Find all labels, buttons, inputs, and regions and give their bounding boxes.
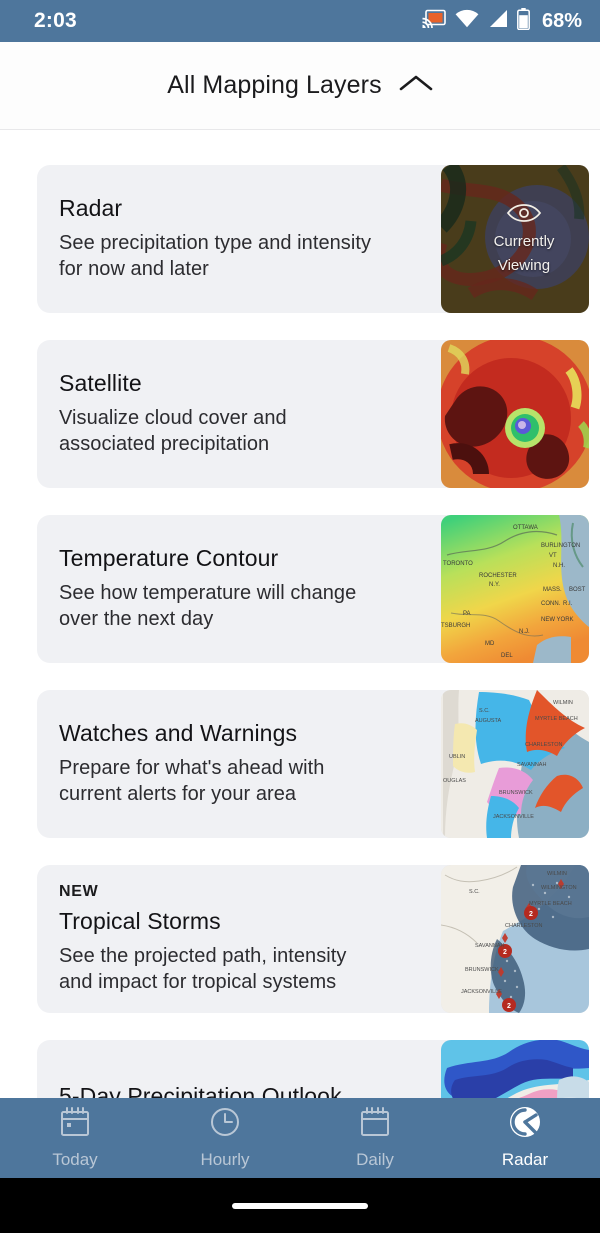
nav-label: Daily bbox=[356, 1150, 394, 1170]
svg-text:WILMIN: WILMIN bbox=[547, 871, 567, 877]
svg-text:ROCHESTER: ROCHESTER bbox=[479, 573, 517, 579]
chevron-up-icon[interactable] bbox=[399, 73, 433, 98]
page-title: All Mapping Layers bbox=[167, 71, 381, 100]
svg-text:OTTAWA: OTTAWA bbox=[513, 525, 538, 531]
nav-label: Hourly bbox=[200, 1150, 249, 1170]
svg-text:MD: MD bbox=[485, 641, 495, 647]
svg-text:S.C.: S.C. bbox=[479, 708, 490, 714]
svg-text:WILMINGTON: WILMINGTON bbox=[541, 885, 577, 891]
layer-description: See how temperature will change over the… bbox=[59, 581, 378, 632]
layer-description: See precipitation type and intensity for… bbox=[59, 231, 378, 282]
svg-text:S.C.: S.C. bbox=[469, 889, 480, 895]
status-bar: 2:03 bbox=[0, 0, 600, 42]
svg-text:AUGUSTA: AUGUSTA bbox=[475, 718, 502, 724]
svg-text:MYRTLE BEACH: MYRTLE BEACH bbox=[535, 716, 578, 722]
system-gesture-bar bbox=[0, 1178, 600, 1233]
mapping-layers-list[interactable]: Radar See precipitation type and intensi… bbox=[0, 131, 600, 1233]
layer-card-tropical-storms[interactable]: NEW Tropical Storms See the projected pa… bbox=[37, 865, 563, 1013]
layer-card-text: Radar See precipitation type and intensi… bbox=[59, 165, 378, 313]
svg-text:BRUNSWICK: BRUNSWICK bbox=[499, 790, 533, 796]
layer-card-text: NEW Tropical Storms See the projected pa… bbox=[59, 865, 378, 1013]
layer-title: Watches and Warnings bbox=[59, 720, 378, 747]
svg-text:MYRTLE BEACH: MYRTLE BEACH bbox=[529, 901, 572, 907]
calendar-icon bbox=[59, 1106, 91, 1143]
svg-text:R.I.: R.I. bbox=[563, 601, 573, 607]
svg-text:WILMIN: WILMIN bbox=[553, 700, 573, 706]
svg-text:N.J.: N.J. bbox=[519, 629, 530, 635]
svg-text:N.H.: N.H. bbox=[553, 563, 565, 569]
svg-text:JACKSONVILLE: JACKSONVILLE bbox=[461, 989, 502, 995]
svg-text:2: 2 bbox=[507, 1003, 511, 1010]
thumbnail-image: 2 2 2 S.C. WILMIN WILMINGTON MYRTLE BEAC… bbox=[441, 865, 589, 1013]
thumbnail-image: S.C. WILMIN MYRTLE BEACH AUGUSTA CHARLES… bbox=[441, 690, 589, 838]
svg-text:CONN.: CONN. bbox=[541, 601, 561, 607]
svg-text:SAVANNAH: SAVANNAH bbox=[517, 762, 546, 768]
svg-text:NEW YORK: NEW YORK bbox=[541, 617, 574, 623]
bottom-navigation-bar: Today Hourly D bbox=[0, 1098, 600, 1178]
layer-card-text: Satellite Visualize cloud cover and asso… bbox=[59, 340, 378, 488]
svg-text:VT: VT bbox=[549, 553, 557, 559]
svg-text:PA: PA bbox=[463, 611, 471, 617]
svg-text:OUGLAS: OUGLAS bbox=[443, 778, 466, 784]
svg-text:BURLINGTON: BURLINGTON bbox=[541, 543, 580, 549]
svg-text:TSBURGH: TSBURGH bbox=[441, 623, 470, 629]
layer-description: Visualize cloud cover and associated pre… bbox=[59, 406, 378, 457]
satellite-thumbnail[interactable] bbox=[441, 340, 589, 488]
nav-label: Today bbox=[52, 1150, 97, 1170]
calendar-icon bbox=[359, 1106, 391, 1143]
cast-icon bbox=[422, 9, 446, 34]
layer-card-radar[interactable]: Radar See precipitation type and intensi… bbox=[37, 165, 563, 313]
svg-text:2: 2 bbox=[529, 911, 533, 918]
layer-title: Temperature Contour bbox=[59, 545, 378, 572]
nav-item-today[interactable]: Today bbox=[0, 1106, 150, 1170]
radar-icon bbox=[509, 1106, 541, 1143]
svg-text:BRUNSWICK: BRUNSWICK bbox=[465, 967, 499, 973]
svg-text:SAVANNAH: SAVANNAH bbox=[475, 943, 504, 949]
tropical-storms-thumbnail[interactable]: 2 2 2 S.C. WILMIN WILMINGTON MYRTLE BEAC… bbox=[441, 865, 589, 1013]
thumbnail-image: OTTAWA BURLINGTON VT N.H. TORONTO ROCHES… bbox=[441, 515, 589, 663]
status-bar-clock: 2:03 bbox=[34, 9, 77, 33]
layer-card-satellite[interactable]: Satellite Visualize cloud cover and asso… bbox=[37, 340, 563, 488]
temperature-contour-thumbnail[interactable]: OTTAWA BURLINGTON VT N.H. TORONTO ROCHES… bbox=[441, 515, 589, 663]
eye-icon bbox=[506, 203, 542, 228]
layer-card-temperature-contour[interactable]: Temperature Contour See how temperature … bbox=[37, 515, 563, 663]
layer-description: See the projected path, intensity and im… bbox=[59, 944, 378, 995]
svg-text:TORONTO: TORONTO bbox=[443, 561, 473, 567]
svg-text:MASS.: MASS. bbox=[543, 587, 562, 593]
layer-card-text: Temperature Contour See how temperature … bbox=[59, 515, 378, 663]
svg-text:JACKSONVILLE: JACKSONVILLE bbox=[493, 814, 534, 820]
radar-thumbnail[interactable]: Currently Viewing bbox=[441, 165, 589, 313]
home-indicator[interactable] bbox=[232, 1203, 368, 1209]
layer-title: Satellite bbox=[59, 370, 378, 397]
svg-text:CHARLESTON: CHARLESTON bbox=[505, 923, 543, 929]
nav-item-radar[interactable]: Radar bbox=[450, 1106, 600, 1170]
svg-text:2: 2 bbox=[503, 949, 507, 956]
svg-text:DEL: DEL bbox=[501, 653, 513, 659]
watches-warnings-thumbnail[interactable]: S.C. WILMIN MYRTLE BEACH AUGUSTA CHARLES… bbox=[441, 690, 589, 838]
battery-icon bbox=[517, 8, 530, 35]
currently-viewing-overlay: Currently Viewing bbox=[441, 165, 589, 313]
status-bar-icons: 68% bbox=[422, 8, 582, 35]
layer-title: Radar bbox=[59, 195, 378, 222]
clock-icon bbox=[209, 1106, 241, 1143]
currently-viewing-line2: Viewing bbox=[498, 256, 550, 276]
wifi-icon bbox=[455, 9, 479, 33]
layer-title: Tropical Storms bbox=[59, 908, 378, 935]
nav-item-daily[interactable]: Daily bbox=[300, 1106, 450, 1170]
svg-text:N.Y.: N.Y. bbox=[489, 582, 500, 588]
new-badge: NEW bbox=[59, 883, 378, 901]
layer-description: Prepare for what's ahead with current al… bbox=[59, 756, 378, 807]
currently-viewing-line1: Currently bbox=[494, 232, 555, 252]
nav-item-hourly[interactable]: Hourly bbox=[150, 1106, 300, 1170]
nav-label: Radar bbox=[502, 1150, 548, 1170]
battery-percent-label: 68% bbox=[542, 10, 582, 33]
layer-card-watches-and-warnings[interactable]: Watches and Warnings Prepare for what's … bbox=[37, 690, 563, 838]
svg-text:UBLIN: UBLIN bbox=[449, 754, 465, 760]
thumbnail-image bbox=[441, 340, 589, 488]
layer-card-text: Watches and Warnings Prepare for what's … bbox=[59, 690, 378, 838]
svg-text:BOST: BOST bbox=[569, 587, 586, 593]
all-mapping-layers-header[interactable]: All Mapping Layers bbox=[0, 42, 600, 130]
app-screen: 2:03 bbox=[0, 0, 600, 1233]
svg-text:CHARLESTON: CHARLESTON bbox=[525, 742, 563, 748]
cell-signal-icon bbox=[488, 9, 508, 33]
